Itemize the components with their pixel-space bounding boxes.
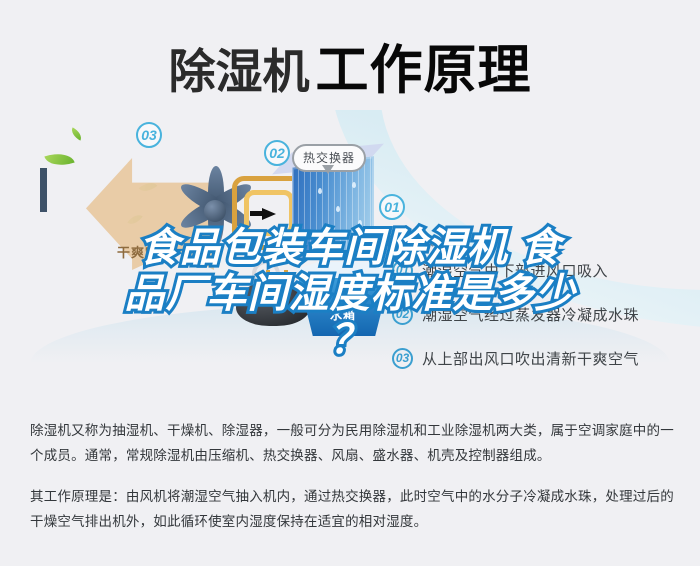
diagram-badge-01: 01	[379, 194, 405, 220]
wet-air-label: 潮湿空气	[383, 232, 435, 249]
page-title-part1: 除湿机	[169, 45, 310, 98]
body-paragraph-2: 其工作原理是：由风机将潮湿空气抽入机内，通过热交换器，此时空气中的水分子冷凝成水…	[30, 484, 675, 534]
leaf-icon	[69, 127, 84, 140]
leaf-icon	[44, 148, 74, 171]
legend-number: 03	[392, 348, 413, 369]
legend-number: 01	[392, 260, 413, 281]
compressor-icon	[236, 280, 310, 326]
page-title: 除湿机工作原理	[0, 28, 700, 104]
page-title-part2: 工作原理	[316, 41, 532, 100]
process-legend: 01 潮湿空气由下部进风口吸入 02 潮湿空气经过蒸发器冷凝成水珠 03 从上部…	[392, 258, 692, 390]
legend-number: 02	[392, 304, 413, 325]
airflow-arrow-head-icon	[262, 208, 276, 220]
dehumidifier-diagram: 干爽空气 水箱 热交换器	[0, 110, 700, 410]
diagram-badge-03: 03	[136, 122, 162, 148]
diagram-badge-02: 02	[264, 140, 290, 166]
legend-text: 从上部出风口吹出清新干爽空气	[422, 348, 639, 369]
water-tank-label: 水箱	[330, 306, 356, 323]
legend-item: 03 从上部出风口吹出清新干爽空气	[392, 346, 692, 370]
legend-item: 02 潮湿空气经过蒸发器冷凝成水珠	[392, 302, 692, 326]
dry-air-label: 干爽空气	[117, 242, 173, 261]
fan-stem	[40, 168, 47, 212]
body-paragraph-1: 除湿机又称为抽湿机、干燥机、除湿器，一般可分为民用除湿机和工业除湿机两大类，属于…	[30, 418, 675, 468]
legend-text: 潮湿空气经过蒸发器冷凝成水珠	[422, 304, 639, 325]
legend-text: 潮湿空气由下部进风口吸入	[422, 260, 608, 281]
page-root: 除湿机工作原理 干爽空气	[0, 0, 700, 566]
legend-item: 01 潮湿空气由下部进风口吸入	[392, 258, 692, 282]
heat-exchanger-callout-tail	[322, 165, 334, 174]
article-body: 除湿机又称为抽湿机、干燥机、除湿器，一般可分为民用除湿机和工业除湿机两大类，属于…	[30, 418, 675, 550]
